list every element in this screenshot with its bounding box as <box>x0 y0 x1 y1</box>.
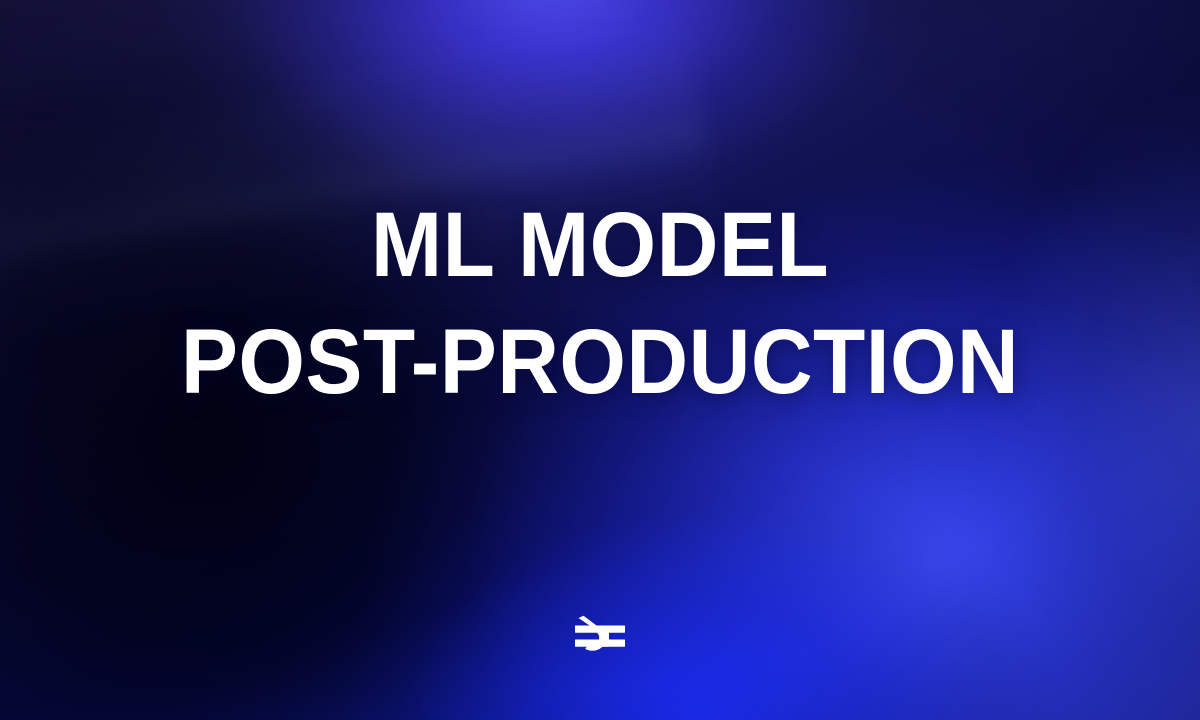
slide-content: ML MODEL POST-PRODUCTION <box>0 0 1200 720</box>
title-line-1: ML MODEL <box>42 196 1158 295</box>
title-block: ML MODEL POST-PRODUCTION <box>0 196 1200 413</box>
title-line-2: POST-PRODUCTION <box>42 313 1158 412</box>
brand-logo-icon <box>571 614 629 658</box>
title-slide: ML MODEL POST-PRODUCTION <box>0 0 1200 720</box>
